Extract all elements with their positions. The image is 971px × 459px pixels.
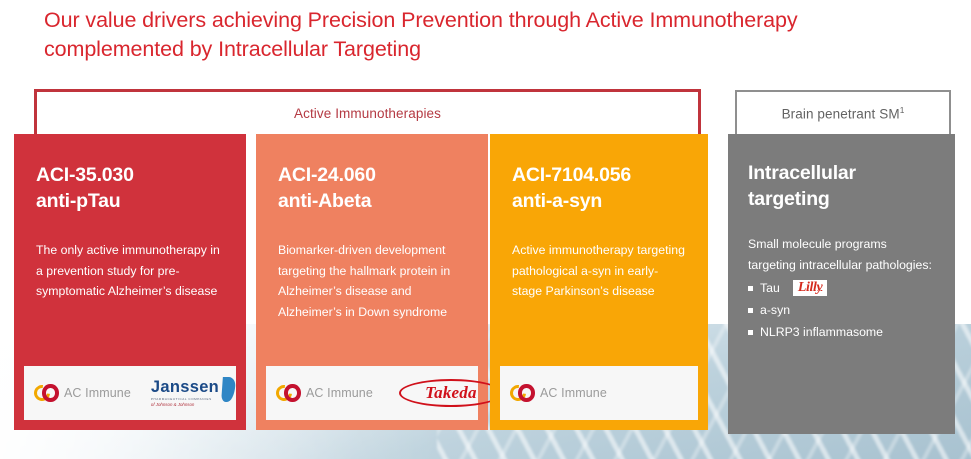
- page-title: Our value drivers achieving Precision Pr…: [44, 6, 844, 64]
- card-body-intracellular-targeting: Intracellular targeting Small molecule p…: [728, 134, 955, 434]
- card-aci-24-060[interactable]: ACI-24.060 anti-Abeta Biomarker-driven d…: [256, 134, 488, 430]
- bracket-label-active-immunotherapies: Active Immunotherapies: [294, 106, 441, 121]
- janssen-logo: Janssen PHARMACEUTICAL COMPANIES of John…: [151, 379, 235, 408]
- janssen-swoosh-icon: [222, 377, 235, 402]
- card-logo-strip-aci-7104-056: AC Immune: [500, 366, 698, 420]
- card-heading-line1: ACI-7104.056: [512, 162, 686, 188]
- card-description-aci-7104-056: Active immunotherapy targeting pathologi…: [512, 240, 686, 302]
- bracket-label-brain-penetrant-sm: Brain penetrant SM1: [782, 105, 905, 122]
- card-heading-line1: ACI-24.060: [278, 162, 466, 188]
- card-heading-intracellular-targeting: Intracellular targeting: [748, 160, 937, 212]
- card-intracellular-targeting[interactable]: Intracellular targeting Small molecule p…: [728, 134, 955, 434]
- ac-immune-mark-icon: [276, 384, 301, 402]
- janssen-wordmark: Janssen: [151, 379, 219, 396]
- card-logo-strip-aci-24-060: AC Immune Takeda: [266, 366, 478, 420]
- ac-immune-wordmark: AC Immune: [64, 386, 131, 400]
- list-item-label: Tau: [760, 277, 780, 299]
- card-logo-strip-aci-35-030: AC Immune Janssen PHARMACEUTICAL COMPANI…: [24, 366, 236, 420]
- ac-immune-mark-icon: [34, 384, 59, 402]
- list-item-label: NLRP3 inflammasome: [760, 321, 883, 343]
- card-heading-line2: anti-Abeta: [278, 188, 466, 214]
- lilly-logo: Lilly: [793, 280, 827, 296]
- card-heading-line1: ACI-35.030: [36, 162, 224, 188]
- card-description-aci-35-030: The only active immunotherapy in a preve…: [36, 240, 224, 302]
- card-aci-7104-056[interactable]: ACI-7104.056 anti-a-syn Active immunothe…: [490, 134, 708, 430]
- card-body-aci-35-030: ACI-35.030 anti-pTau The only active imm…: [14, 134, 246, 356]
- lilly-wordmark: Lilly: [798, 281, 822, 295]
- bracket-brain-penetrant-sm: Brain penetrant SM1: [735, 90, 951, 134]
- ac-immune-logo: AC Immune: [276, 384, 373, 402]
- card-description-intracellular-targeting: Small molecule programs targeting intrac…: [748, 234, 937, 275]
- list-item: NLRP3 inflammasome: [748, 321, 937, 343]
- ac-immune-wordmark: AC Immune: [306, 386, 373, 400]
- bracket-active-immunotherapies: Active Immunotherapies: [34, 89, 701, 134]
- card-heading-aci-7104-056: ACI-7104.056 anti-a-syn: [512, 162, 686, 214]
- card-aci-35-030[interactable]: ACI-35.030 anti-pTau The only active imm…: [14, 134, 246, 430]
- ac-immune-logo: AC Immune: [34, 384, 131, 402]
- card-body-aci-24-060: ACI-24.060 anti-Abeta Biomarker-driven d…: [256, 134, 488, 356]
- list-item: a-syn: [748, 299, 937, 321]
- card-heading-line2: anti-pTau: [36, 188, 224, 214]
- card-body-aci-7104-056: ACI-7104.056 anti-a-syn Active immunothe…: [490, 134, 708, 356]
- card-heading-line2: anti-a-syn: [512, 188, 686, 214]
- card-heading-line1: Intracellular: [748, 160, 937, 186]
- takeda-wordmark: Takeda: [425, 383, 477, 403]
- janssen-text-block: Janssen PHARMACEUTICAL COMPANIES of John…: [151, 379, 219, 408]
- ac-immune-logo: AC Immune: [510, 384, 607, 402]
- takeda-logo: Takeda: [399, 376, 503, 410]
- card-heading-aci-35-030: ACI-35.030 anti-pTau: [36, 162, 224, 214]
- intracellular-target-list: Tau Lilly a-syn NLRP3 inflammasome: [748, 277, 937, 343]
- card-description-aci-24-060: Biomarker-driven development targeting t…: [278, 240, 466, 322]
- slide-root: Our value drivers achieving Precision Pr…: [0, 0, 971, 459]
- card-heading-line2: targeting: [748, 186, 937, 212]
- card-heading-aci-24-060: ACI-24.060 anti-Abeta: [278, 162, 466, 214]
- janssen-tagline-2: of Johnson & Johnson: [151, 402, 219, 408]
- ac-immune-mark-icon: [510, 384, 535, 402]
- footnote-marker: 1: [900, 105, 905, 115]
- list-item-label: a-syn: [760, 299, 790, 321]
- list-item: Tau Lilly: [748, 277, 937, 299]
- bracket-label-brain-penetrant-sm-text: Brain penetrant SM: [782, 106, 900, 121]
- ac-immune-wordmark: AC Immune: [540, 386, 607, 400]
